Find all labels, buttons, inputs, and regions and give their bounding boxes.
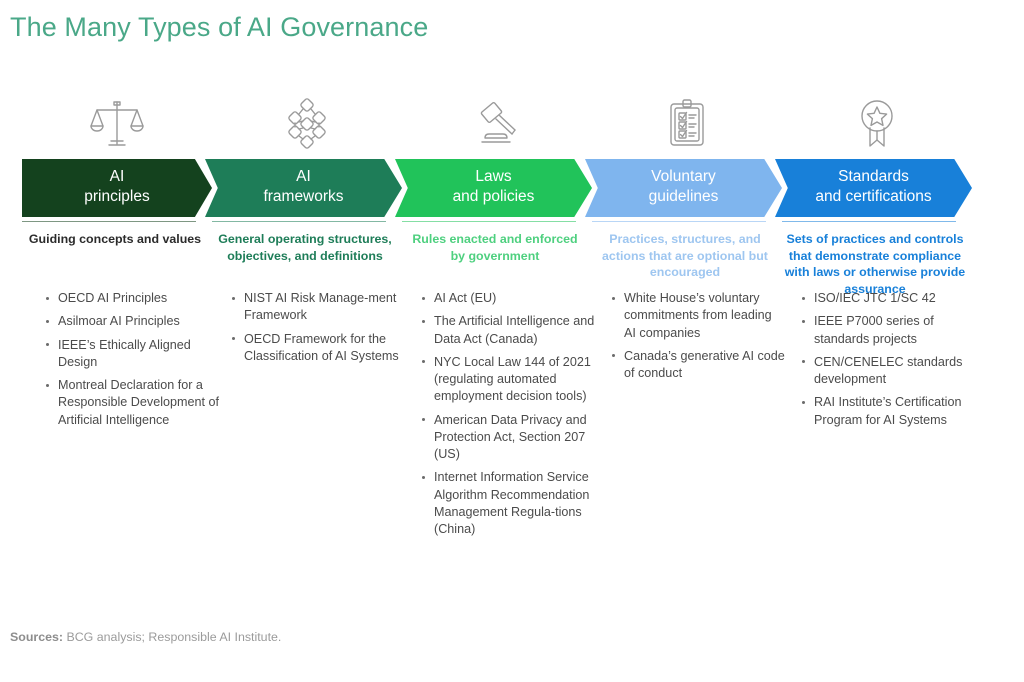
list-voluntary-guidelines: White House’s voluntary commitments from… (610, 290, 786, 388)
band-line-1: AI (296, 168, 311, 185)
list-item: IEEE’s Ethically Aligned Design (44, 337, 220, 372)
column-voluntary-guidelines: Voluntary guidelines Practices, structur… (592, 88, 782, 297)
column-ai-frameworks: AI frameworks General operating structur… (212, 88, 402, 297)
divider (22, 221, 196, 222)
list-item: White House’s voluntary commitments from… (610, 290, 786, 342)
list-item: American Data Privacy and Protection Act… (420, 412, 596, 464)
band-line-2: principles (84, 188, 149, 205)
column-ai-principles: AI principles Guiding concepts and value… (22, 88, 212, 297)
list-item: RAI Institute’s Certification Program fo… (800, 394, 976, 429)
band-label: Laws and policies (447, 167, 541, 207)
divider (212, 221, 386, 222)
list-standards-and-certifications: ISO/IEC JTC 1/SC 42IEEE P7000 series of … (800, 290, 976, 435)
list-item: The Artificial Intelligence and Data Act… (420, 313, 596, 348)
list-ai-frameworks: NIST AI Risk Manage‐​ment FrameworkOECD … (230, 290, 406, 371)
band-standards-and-certifications[interactable]: Standards and certifications (775, 159, 972, 217)
divider (782, 221, 956, 222)
list-item: Internet Information Service Algorithm R… (420, 469, 596, 538)
divider (592, 221, 766, 222)
band-line-2: and policies (453, 188, 535, 205)
list-item: Canada’s generative AI code of conduct (610, 348, 786, 383)
subtitle-ai-principles: Guiding concepts and values (22, 231, 212, 248)
band-line-2: and certifications (815, 188, 931, 205)
list-item: Asilmoar AI Principles (44, 313, 220, 330)
award-medal-icon (782, 88, 972, 150)
list-item: NIST AI Risk Manage‐​ment Framework (230, 290, 406, 325)
band-line-2: guidelines (649, 188, 719, 205)
list-item: IEEE P7000 series of standards projects (800, 313, 976, 348)
band-label: Standards and certifications (809, 167, 937, 207)
column-laws-and-policies: Laws and policies Rules enacted and enfo… (402, 88, 592, 297)
gavel-icon (402, 88, 592, 150)
band-ai-frameworks[interactable]: AI frameworks (205, 159, 402, 217)
clipboard-checklist-icon (592, 88, 782, 150)
balance-scale-icon (22, 88, 212, 150)
list-item: ISO/IEC JTC 1/SC 42 (800, 290, 976, 307)
band-ai-principles[interactable]: AI principles (22, 159, 212, 217)
band-label: AI frameworks (257, 167, 349, 207)
list-item: AI Act (EU) (420, 290, 596, 307)
sources-label: Sources: (10, 630, 63, 644)
band-line-1: Voluntary (651, 168, 716, 185)
list-item: Montreal Declaration for a Responsible D… (44, 377, 220, 429)
page-title: The Many Types of AI Governance (10, 12, 428, 43)
list-item: OECD Framework for the Classification of… (230, 331, 406, 366)
list-ai-principles: OECD AI PrinciplesAsilmoar AI Principles… (44, 290, 220, 435)
column-standards-and-certifications: Standards and certifications Sets of pra… (782, 88, 972, 297)
subtitle-standards-and-certifications: Sets of practices and controls that demo… (782, 231, 972, 297)
divider (402, 221, 576, 222)
band-line-2: frameworks (263, 188, 343, 205)
governance-columns: AI principles Guiding concepts and value… (22, 88, 1002, 297)
subtitle-laws-and-policies: Rules enacted and enforced by government (402, 231, 592, 264)
sources-footer: Sources: BCG analysis; Responsible AI In… (10, 630, 281, 644)
band-label: Voluntary guidelines (643, 167, 725, 207)
network-nodes-icon (212, 88, 402, 150)
band-label: AI principles (78, 167, 155, 207)
sources-text: BCG analysis; Responsible AI Institute. (63, 630, 281, 644)
band-line-1: Standards (838, 168, 909, 185)
subtitle-ai-frameworks: General operating structures, objectives… (212, 231, 402, 264)
list-item: OECD AI Principles (44, 290, 220, 307)
band-line-1: AI (110, 168, 125, 185)
band-line-1: Laws (475, 168, 511, 185)
band-laws-and-policies[interactable]: Laws and policies (395, 159, 592, 217)
list-laws-and-policies: AI Act (EU)The Artificial Intelligence a… (420, 290, 596, 544)
band-voluntary-guidelines[interactable]: Voluntary guidelines (585, 159, 782, 217)
list-item: CEN/CENELEC standards development (800, 354, 976, 389)
list-item: NYC Local Law 144 of 2021 (regulating au… (420, 354, 596, 406)
subtitle-voluntary-guidelines: Practices, structures, and actions that … (592, 231, 782, 281)
